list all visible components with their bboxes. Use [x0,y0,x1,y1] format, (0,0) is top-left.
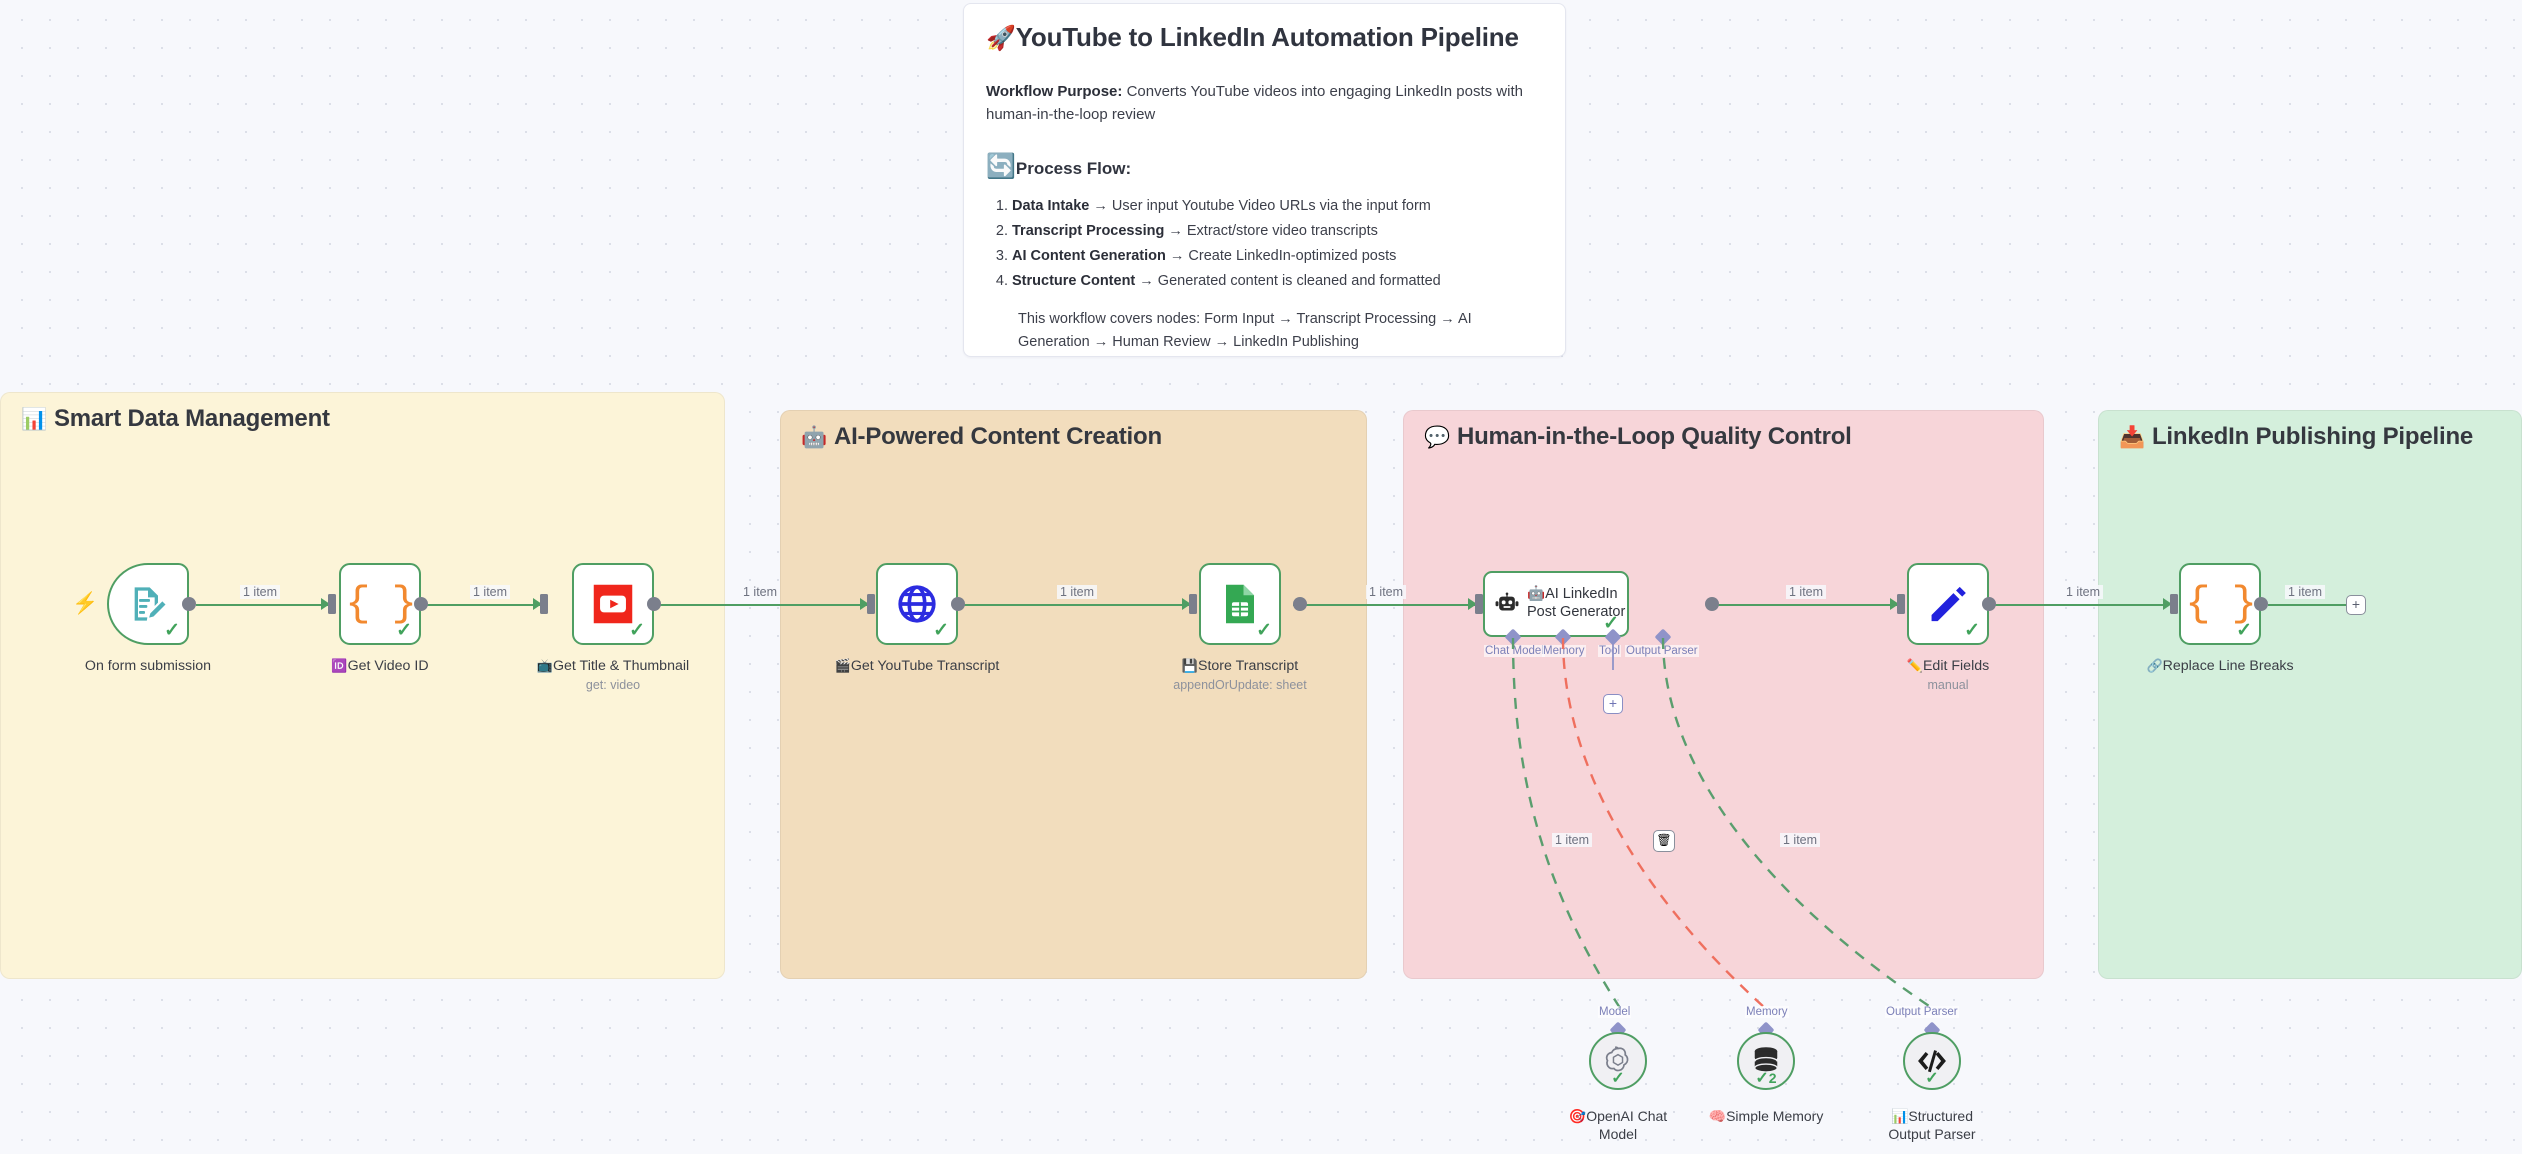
node-status-check-icon: ✓ [1905,1071,1959,1087]
robot-icon: 🤖 [801,427,827,448]
node-status-check-icon: ✓ [933,621,949,640]
input-connector[interactable] [2170,594,2178,614]
sub-port-label-memory: Memory [1745,1006,1789,1018]
output-connector[interactable] [2254,597,2268,611]
section-title: 📥 LinkedIn Publishing Pipeline [2119,423,2473,451]
section-ai-powered-content-creation[interactable]: 🤖 AI-Powered Content Creation [780,410,1367,979]
node-subtitle: get: video [523,678,703,692]
globe-icon [896,583,938,625]
input-connector[interactable] [1189,594,1197,614]
sub-port-label-model: Model [1598,1006,1631,1018]
code-braces-icon: { } [345,583,415,625]
wire-label: 1 item [1552,833,1592,847]
brain-icon: 🧠 [1709,1108,1726,1124]
agent-robot-icon [1495,586,1519,622]
output-connector[interactable] [1982,597,1996,611]
node-replace-line-breaks[interactable]: { } ✓ [2179,563,2261,645]
node-status-check-icon: ✓ [1591,1071,1645,1087]
node-ai-linkedin-post-generator[interactable]: 🤖AI LinkedIn Post Generator ✓ [1483,571,1629,637]
input-connector[interactable] [867,594,875,614]
code-braces-icon: { } [2185,583,2255,625]
node-status-check-icon: ✓2 [1739,1071,1793,1087]
sub-node-structured-output-parser[interactable]: ✓ [1903,1032,1961,1090]
wire-label: 1 item [2063,585,2103,599]
workflow-coverage-note: This workflow covers nodes: Form Input →… [1018,308,1543,354]
node-get-youtube-transcript[interactable]: ✓ [876,563,958,645]
form-trigger-icon [128,584,168,624]
node-label: 💾Store Transcript [1150,658,1330,676]
wire-label: 1 item [2285,585,2325,599]
wire-label: 1 item [1780,833,1820,847]
inbox-tray-icon: 📥 [2119,427,2145,448]
node-status-check-icon: ✓ [1964,621,1980,640]
link-icon: 🔗 [2146,658,2162,673]
node-status-check-icon: ✓ [164,621,180,640]
wire-label: 1 item [1786,585,1826,599]
wire-transcript-to-store [951,604,1189,606]
sub-port-label-output-parser: Output Parser [1885,1006,1959,1018]
refresh-cycle-icon: 🔄 [986,153,1016,180]
sticky-note-overview[interactable]: 🚀YouTube to LinkedIn Automation Pipeline… [963,3,1566,357]
wire-output-parser-to-structured [1660,636,1950,1016]
node-store-transcript[interactable]: ✓ [1199,563,1281,645]
sticky-note-title: 🚀YouTube to LinkedIn Automation Pipeline [986,22,1543,54]
wire-ai-to-edit [1712,604,1897,606]
pencil-icon [1927,583,1969,625]
tv-icon: 📺 [537,658,553,673]
wire-store-to-ai [1293,604,1475,606]
output-connector[interactable] [182,597,196,611]
wire-videoid-to-title [414,604,540,606]
google-sheets-icon [1220,583,1260,625]
wire-replace-to-add [2268,604,2347,606]
memory-item-count: 2 [1769,1070,1777,1086]
output-connector[interactable] [414,597,428,611]
workflow-purpose-label: Workflow Purpose: [986,83,1122,100]
wire-label: 1 item [740,585,780,599]
wire-label: 1 item [240,585,280,599]
sub-node-simple-memory[interactable]: ✓2 [1737,1032,1795,1090]
node-status-check-icon: ✓ [396,621,412,640]
node-status-check-icon: ✓ [629,621,645,640]
wire-title-to-transcript [647,604,867,606]
sub-node-label: 📊Structured Output Parser [1872,1108,1992,1143]
clapperboard-icon: 🎬 [835,658,851,673]
target-icon: 🎯 [1569,1108,1586,1124]
section-title: 📊 Smart Data Management [21,405,330,433]
sub-node-label: 🧠Simple Memory [1706,1108,1826,1126]
output-connector[interactable] [647,597,661,611]
rocket-icon: 🚀 [986,25,1016,52]
wire-edit-to-replace [1989,604,2169,606]
process-flow-heading: 🔄Process Flow: [986,152,1543,181]
robot-icon: 🤖 [1527,586,1545,602]
pencil-emoji-icon: ✏️ [1907,658,1923,673]
workflow-purpose: Workflow Purpose: Converts YouTube video… [986,80,1543,127]
input-connector[interactable] [328,594,336,614]
wire-label: 1 item [1057,585,1097,599]
node-get-video-id[interactable]: { } ✓ [339,563,421,645]
bar-chart-icon: 📊 [21,409,47,430]
output-connector[interactable] [1705,597,1719,611]
node-label: 🎬Get YouTube Transcript [827,658,1007,676]
list-item: Transcript Processing → Extract/store vi… [1012,219,1543,244]
node-label: 🔗Replace Line Breaks [2130,658,2310,676]
output-connector[interactable] [1293,597,1307,611]
sub-node-openai-chat-model[interactable]: ✓ [1589,1032,1647,1090]
wire-label: 1 item [1366,585,1406,599]
input-connector[interactable] [1897,594,1905,614]
section-title: 💬 Human-in-the-Loop Quality Control [1424,423,1852,451]
node-subtitle: appendOrUpdate: sheet [1150,678,1330,692]
node-status-check-icon: ✓ [2236,621,2252,640]
input-connector[interactable] [1475,594,1483,614]
node-label: On form submission [45,658,251,676]
speech-bubble-icon: 💬 [1424,427,1450,448]
section-linkedin-publishing-pipeline[interactable]: 📥 LinkedIn Publishing Pipeline [2098,410,2522,979]
section-title: 🤖 AI-Powered Content Creation [801,423,1162,451]
trigger-bolt-icon: ⚡ [72,593,98,614]
list-item: Data Intake → User input Youtube Video U… [1012,194,1543,219]
node-status-check-icon: ✓ [1256,621,1272,640]
output-connector[interactable] [951,597,965,611]
node-on-form-submission[interactable]: ✓ [107,563,189,645]
wire-label: 1 item [470,585,510,599]
list-item: AI Content Generation → Create LinkedIn-… [1012,244,1543,269]
bar-chart-icon: 📊 [1891,1108,1908,1124]
youtube-icon [592,583,634,625]
process-flow-list: Data Intake → User input Youtube Video U… [1012,194,1543,294]
delete-connection-button[interactable]: 🗑 [1653,830,1675,852]
list-item: Structure Content → Generated content is… [1012,269,1543,294]
node-get-title-thumbnail[interactable]: ✓ [572,563,654,645]
workflow-canvas[interactable]: 🚀YouTube to LinkedIn Automation Pipeline… [0,0,2522,1154]
node-label: 📺Get Title & Thumbnail [523,658,703,676]
sub-node-label: 🎯OpenAI Chat Model [1558,1108,1678,1143]
node-label: 🆔Get Video ID [290,658,470,676]
add-node-button[interactable]: + [2346,595,2366,615]
floppy-disk-icon: 💾 [1182,658,1198,673]
node-subtitle: manual [1858,678,2038,692]
node-label: ✏️Edit Fields [1858,658,2038,676]
wire-form-to-videoid [196,604,328,606]
input-connector[interactable] [540,594,548,614]
id-badge-icon: 🆔 [331,658,347,673]
node-edit-fields[interactable]: ✓ [1907,563,1989,645]
